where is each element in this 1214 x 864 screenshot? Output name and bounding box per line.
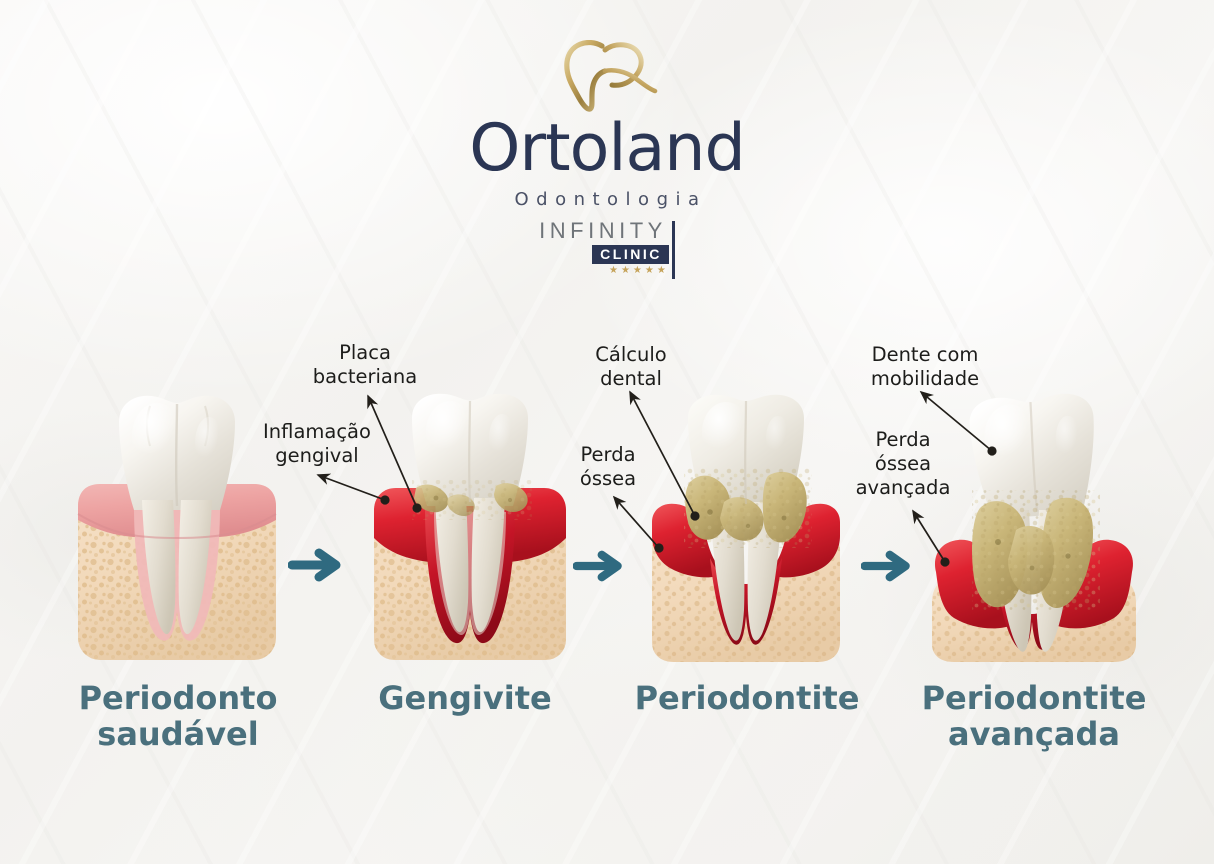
arrow-1-2 bbox=[288, 548, 344, 587]
caption-periodontite-avancada: Periodontite avançada bbox=[898, 680, 1170, 752]
stage-periodontite bbox=[648, 390, 844, 665]
arrow-3-4 bbox=[861, 550, 913, 587]
badge-clinic-text: CLINIC bbox=[592, 245, 669, 264]
caption-gengivite: Gengivite bbox=[340, 680, 590, 716]
tooth-outline-icon bbox=[555, 40, 659, 112]
arrow-right-icon bbox=[573, 550, 625, 582]
callout-dente-com-mobilidade: Dente com mobilidade bbox=[855, 343, 995, 391]
caption-periodonto-saudavel: Periodonto saudável bbox=[42, 680, 314, 752]
bacterial-plaque bbox=[412, 480, 532, 520]
brand-logo: Ortoland Odontologia INFINITY CLINIC ★★★… bbox=[0, 40, 1214, 279]
tooth-illustration-gingivitis bbox=[370, 388, 570, 663]
infinity-clinic-badge: INFINITY CLINIC ★★★★★ bbox=[0, 220, 1214, 279]
arrow-right-icon bbox=[861, 550, 913, 582]
callout-perda-ossea-avancada: Perda óssea avançada bbox=[845, 428, 961, 499]
badge-stars-icon: ★★★★★ bbox=[609, 266, 669, 276]
badge-infinity-text: INFINITY bbox=[539, 220, 669, 242]
callout-inflamacao-gengival: Inflamação gengival bbox=[248, 420, 386, 468]
arrow-right-icon bbox=[288, 548, 344, 582]
arrow-2-3 bbox=[573, 550, 625, 587]
callout-perda-ossea: Perda óssea bbox=[558, 443, 658, 491]
stage-gengivite bbox=[370, 388, 570, 663]
badge-vertical-rule bbox=[672, 221, 675, 279]
brand-wordmark: Ortoland bbox=[0, 116, 1214, 181]
caption-periodontite: Periodontite bbox=[618, 680, 876, 716]
dental-calculus bbox=[684, 468, 812, 548]
advanced-calculus bbox=[972, 490, 1100, 610]
callout-placa-bacteriana: Placa bacteriana bbox=[300, 341, 430, 389]
brand-tagline: Odontologia bbox=[0, 189, 1214, 210]
tooth-illustration-periodontitis bbox=[648, 390, 844, 665]
callout-calculo-dental: Cálculo dental bbox=[566, 343, 696, 391]
